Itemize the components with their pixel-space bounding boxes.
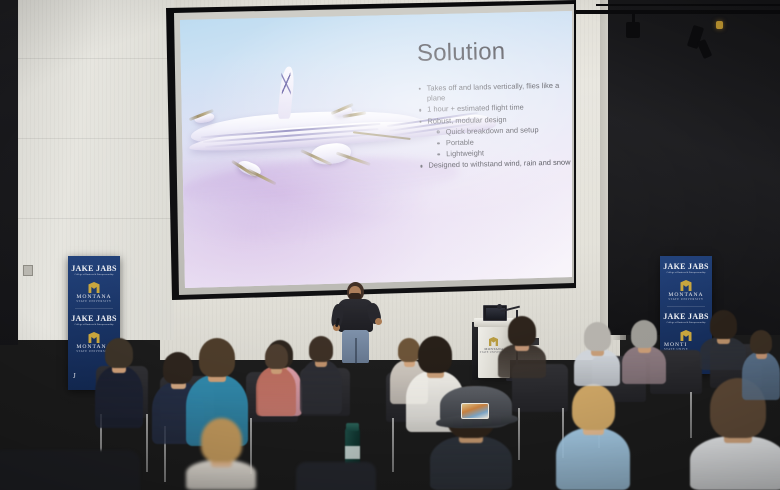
head — [105, 338, 133, 368]
head — [710, 310, 737, 339]
woman-rust-top — [256, 344, 296, 416]
presenter-leg-seam — [355, 338, 357, 364]
vtol-aircraft-render — [180, 6, 420, 251]
head — [201, 418, 242, 462]
ceiling-conduit — [596, 4, 780, 6]
woman-plaid — [622, 320, 666, 384]
man-blue-right — [742, 330, 780, 400]
head — [584, 322, 611, 351]
water-bottle-cap — [346, 423, 359, 431]
head — [508, 316, 536, 346]
torso — [742, 352, 780, 400]
presentation-photo: Solution Takes off and lands vertically,… — [0, 0, 780, 490]
head — [572, 384, 615, 430]
wall-dark-strip-left — [0, 0, 18, 345]
banner-headline: JAKE JABS — [660, 262, 712, 271]
amber-indicator-lamp — [716, 21, 723, 29]
head — [750, 330, 772, 354]
woman-blonde-right — [556, 384, 630, 490]
foreground-seat-back — [0, 450, 140, 490]
banner-subhead-2: College of Business & Entrepreneurship — [68, 323, 120, 326]
cap-patch-icon — [461, 403, 489, 419]
head — [309, 336, 333, 362]
head — [265, 344, 288, 369]
head — [418, 336, 452, 373]
microphone-capsule — [497, 304, 502, 309]
woman-blonde-front — [186, 418, 256, 490]
banner-headline-2: JAKE JABS — [68, 314, 120, 323]
man-dark-suit — [95, 338, 143, 428]
projection-screen: Solution Takes off and lands vertically,… — [152, 0, 576, 300]
slide: Solution Takes off and lands vertically,… — [180, 2, 576, 289]
head — [199, 338, 235, 377]
chair-leg — [518, 408, 520, 460]
man-suit-back-row — [498, 316, 546, 378]
banner-subhead: College of Business & Entrepreneurship — [68, 273, 120, 276]
banner-subhead: College of Business & Entrepreneurship — [660, 271, 712, 274]
slide-bullet-list: Takes off and lands vertically, flies li… — [418, 81, 572, 173]
foreground-seat-back — [296, 462, 376, 490]
torso — [430, 436, 512, 490]
bullet-item: Designed to withstand wind, rain and sno… — [419, 158, 571, 172]
chair-leg — [146, 414, 148, 472]
slide-title: Solution — [417, 38, 506, 68]
torso — [556, 428, 630, 490]
torso — [95, 366, 143, 428]
wall-outlet — [23, 265, 33, 276]
man-gray-hair — [574, 322, 620, 386]
banner-org-line2: STATE UNIVERSITY — [68, 300, 120, 303]
torso — [690, 436, 780, 490]
banner-org-line2: STATE UNIVERSITY — [660, 298, 712, 301]
stage-light-a — [626, 22, 640, 38]
torso — [256, 367, 296, 416]
chair-leg — [392, 418, 394, 472]
screen-surface: Solution Takes off and lands vertically,… — [152, 0, 576, 300]
presenter-right-hand — [375, 318, 382, 325]
banner-headline: JAKE JABS — [68, 264, 120, 273]
aircraft-tail-logo — [281, 73, 290, 95]
torso — [300, 360, 342, 414]
head — [631, 320, 657, 348]
man-right-far — [700, 310, 746, 370]
man-dark-jacket-a — [300, 336, 342, 414]
lighting-truss — [560, 10, 780, 14]
water-bottle-label — [345, 446, 360, 459]
bullet-item: Takes off and lands vertically, flies li… — [418, 81, 570, 105]
